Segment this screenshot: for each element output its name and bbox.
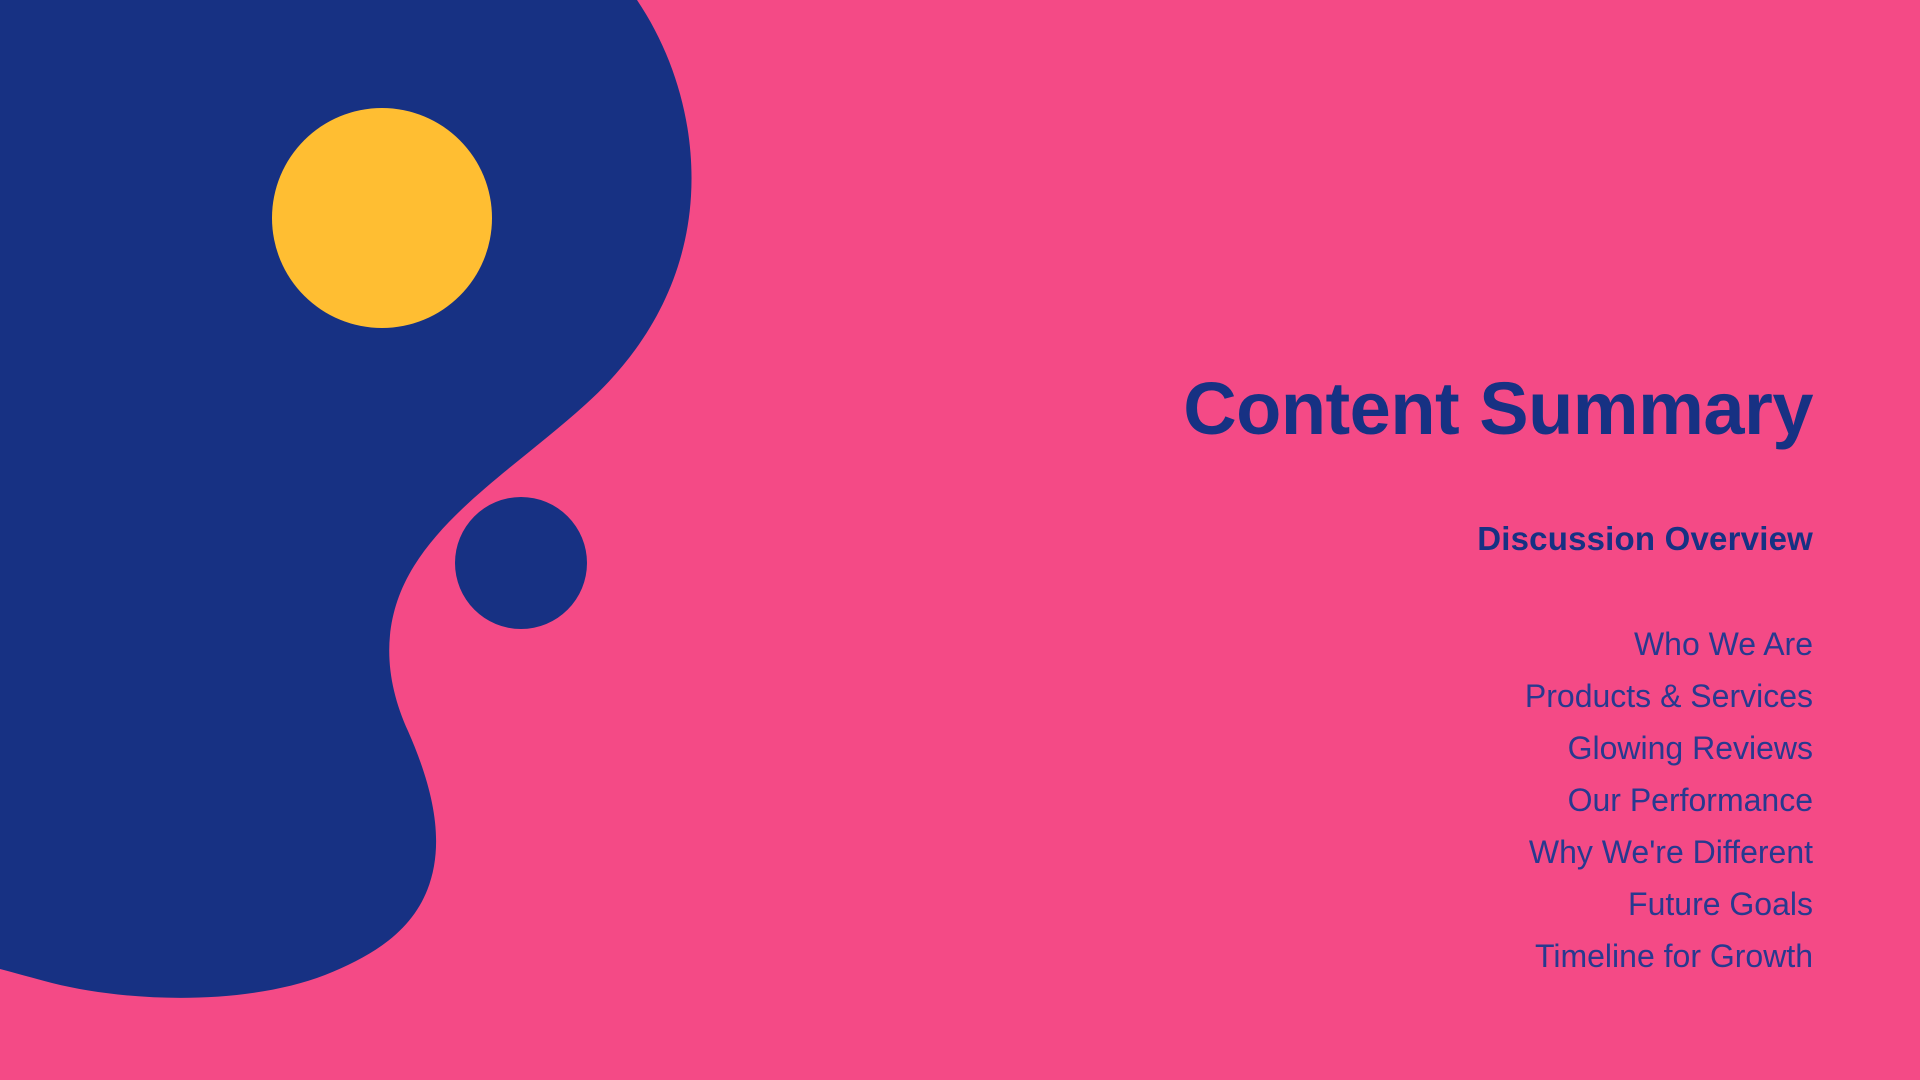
agenda-item: Who We Are xyxy=(0,618,1813,670)
agenda-item: Our Performance xyxy=(0,774,1813,826)
agenda-item: Why We're Different xyxy=(0,826,1813,878)
page-title: Content Summary xyxy=(0,372,1813,446)
agenda-list: Who We Are Products & Services Glowing R… xyxy=(0,618,1813,982)
agenda-item: Products & Services xyxy=(0,670,1813,722)
navy-circle xyxy=(455,497,587,629)
section-subtitle: Discussion Overview xyxy=(0,522,1813,555)
yellow-circle xyxy=(272,108,492,328)
slide-canvas: Content Summary Discussion Overview Who … xyxy=(0,0,1920,1080)
agenda-item: Glowing Reviews xyxy=(0,722,1813,774)
agenda-item: Timeline for Growth xyxy=(0,930,1813,982)
agenda-item: Future Goals xyxy=(0,878,1813,930)
